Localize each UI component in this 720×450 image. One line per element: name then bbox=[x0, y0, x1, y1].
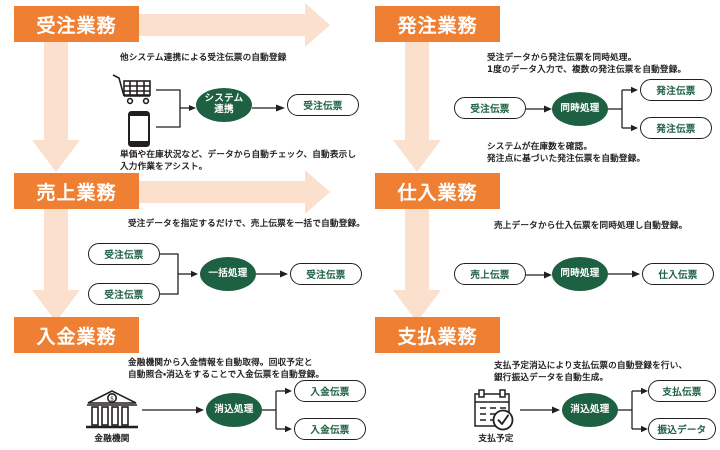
bank-icon-label: 金融機関 bbox=[76, 432, 148, 444]
input-pill-hacchu-1[interactable]: 受注伝票 bbox=[454, 97, 526, 119]
section-banner-shiharai[interactable]: 支払業務 bbox=[375, 317, 500, 353]
output-pill-nyukin-2[interactable]: 入金伝票 bbox=[294, 418, 366, 440]
input-pill-uriage-2[interactable]: 受注伝票 bbox=[88, 283, 160, 305]
connector-shiire-in bbox=[526, 264, 554, 286]
note-juchu-bottom: 単価や在庫状況など、データから自動チェック、自動表示し 入力作業をアシスト。 bbox=[120, 149, 440, 174]
arrowhead-to-process bbox=[189, 105, 196, 111]
output-pill-hacchu-2[interactable]: 発注伝票 bbox=[640, 117, 712, 139]
process-node-uriage[interactable]: 一括処理 bbox=[200, 257, 256, 291]
process-node-shiire[interactable]: 同時処理 bbox=[552, 257, 608, 291]
process-node-juchu[interactable]: システム 連携 bbox=[196, 88, 252, 122]
output-pill-shiharai-2[interactable]: 振込データ bbox=[648, 418, 716, 440]
note-uriage-top: 受注データを指定するだけで、売上伝票を一括で自動登録。 bbox=[128, 218, 448, 230]
process-node-nyukin[interactable]: 消込処理 bbox=[206, 393, 262, 427]
arrowhead-to-output bbox=[276, 105, 285, 112]
split-bracket-shiharai bbox=[618, 385, 650, 437]
note-hacchu-bottom: システムが在庫数を確認。 発注点に基づいた発注伝票を自動登録。 bbox=[487, 141, 720, 166]
vertical-arrow-left-2 bbox=[32, 208, 80, 322]
process-node-shiharai[interactable]: 消込処理 bbox=[562, 393, 618, 427]
note-shiire-top: 売上データから仕入伝票を同時処理し自動登録。 bbox=[494, 220, 720, 232]
section-banner-label: 仕入業務 bbox=[397, 178, 477, 205]
section-banner-label: 支払業務 bbox=[397, 322, 477, 349]
connector-uriage-out bbox=[256, 263, 290, 285]
output-pill-shiharai-1[interactable]: 支払伝票 bbox=[648, 380, 716, 402]
connector-shiharai-in bbox=[520, 399, 562, 421]
bank-icon: $ bbox=[84, 389, 140, 431]
smartphone-icon bbox=[129, 112, 149, 146]
note-nyukin-top: 金融機関から入金情報を自動取得。回収予定と 自動照合・消込をすることで入金伝票を… bbox=[128, 357, 448, 382]
section-banner-label: 受注業務 bbox=[36, 11, 116, 38]
section-banner-shiire[interactable]: 仕入業務 bbox=[375, 173, 500, 209]
split-bracket-nyukin bbox=[262, 385, 294, 437]
output-pill-juchu-1[interactable]: 受注伝票 bbox=[287, 94, 359, 116]
shopping-cart-icon bbox=[113, 75, 150, 103]
connector-shiire-out bbox=[608, 263, 642, 285]
section-banner-nyukin[interactable]: 入金業務 bbox=[14, 317, 139, 353]
output-pill-uriage-1[interactable]: 受注伝票 bbox=[290, 263, 362, 285]
process-node-hacchu[interactable]: 同時処理 bbox=[552, 92, 608, 126]
output-pill-nyukin-1[interactable]: 入金伝票 bbox=[294, 380, 366, 402]
process-diagram-canvas: 受注業務 他システム連携による受注伝票の自動登録 単価や在庫状況など、データから… bbox=[0, 0, 720, 450]
output-pill-shiire-1[interactable]: 仕入伝票 bbox=[642, 263, 714, 285]
calendar-icon-label: 支払予定 bbox=[460, 432, 532, 444]
section-banner-uriage[interactable]: 売上業務 bbox=[14, 173, 139, 209]
calendar-check-icon bbox=[470, 389, 520, 433]
merge-bracket-uriage bbox=[160, 243, 202, 305]
section-banner-label: 入金業務 bbox=[36, 322, 116, 349]
input-pill-uriage-1[interactable]: 受注伝票 bbox=[88, 243, 160, 265]
split-bracket-hacchu bbox=[608, 84, 640, 136]
section-banner-juchu[interactable]: 受注業務 bbox=[14, 6, 139, 42]
section-banner-label: 売上業務 bbox=[36, 178, 116, 205]
note-hacchu-top: 受注データから発注伝票を同時処理。 1度のデータ入力で、複数の発注伝票を自動登録… bbox=[487, 52, 720, 77]
svg-text:$: $ bbox=[110, 396, 114, 403]
horizontal-arrow-row2 bbox=[118, 170, 330, 214]
note-juchu-top: 他システム連携による受注伝票の自動登録 bbox=[120, 52, 420, 64]
merge-bracket-juchu bbox=[156, 90, 189, 127]
input-pill-shiire-1[interactable]: 売上伝票 bbox=[454, 263, 526, 285]
output-pill-hacchu-1[interactable]: 発注伝票 bbox=[640, 79, 712, 101]
section-banner-hacchu[interactable]: 発注業務 bbox=[375, 6, 500, 42]
vertical-arrow-left-1 bbox=[32, 41, 80, 172]
connector-hacchu-in bbox=[526, 98, 554, 120]
connector-nyukin-in bbox=[142, 399, 206, 421]
horizontal-arrow-row1 bbox=[118, 3, 330, 47]
section-banner-label: 発注業務 bbox=[397, 11, 477, 38]
